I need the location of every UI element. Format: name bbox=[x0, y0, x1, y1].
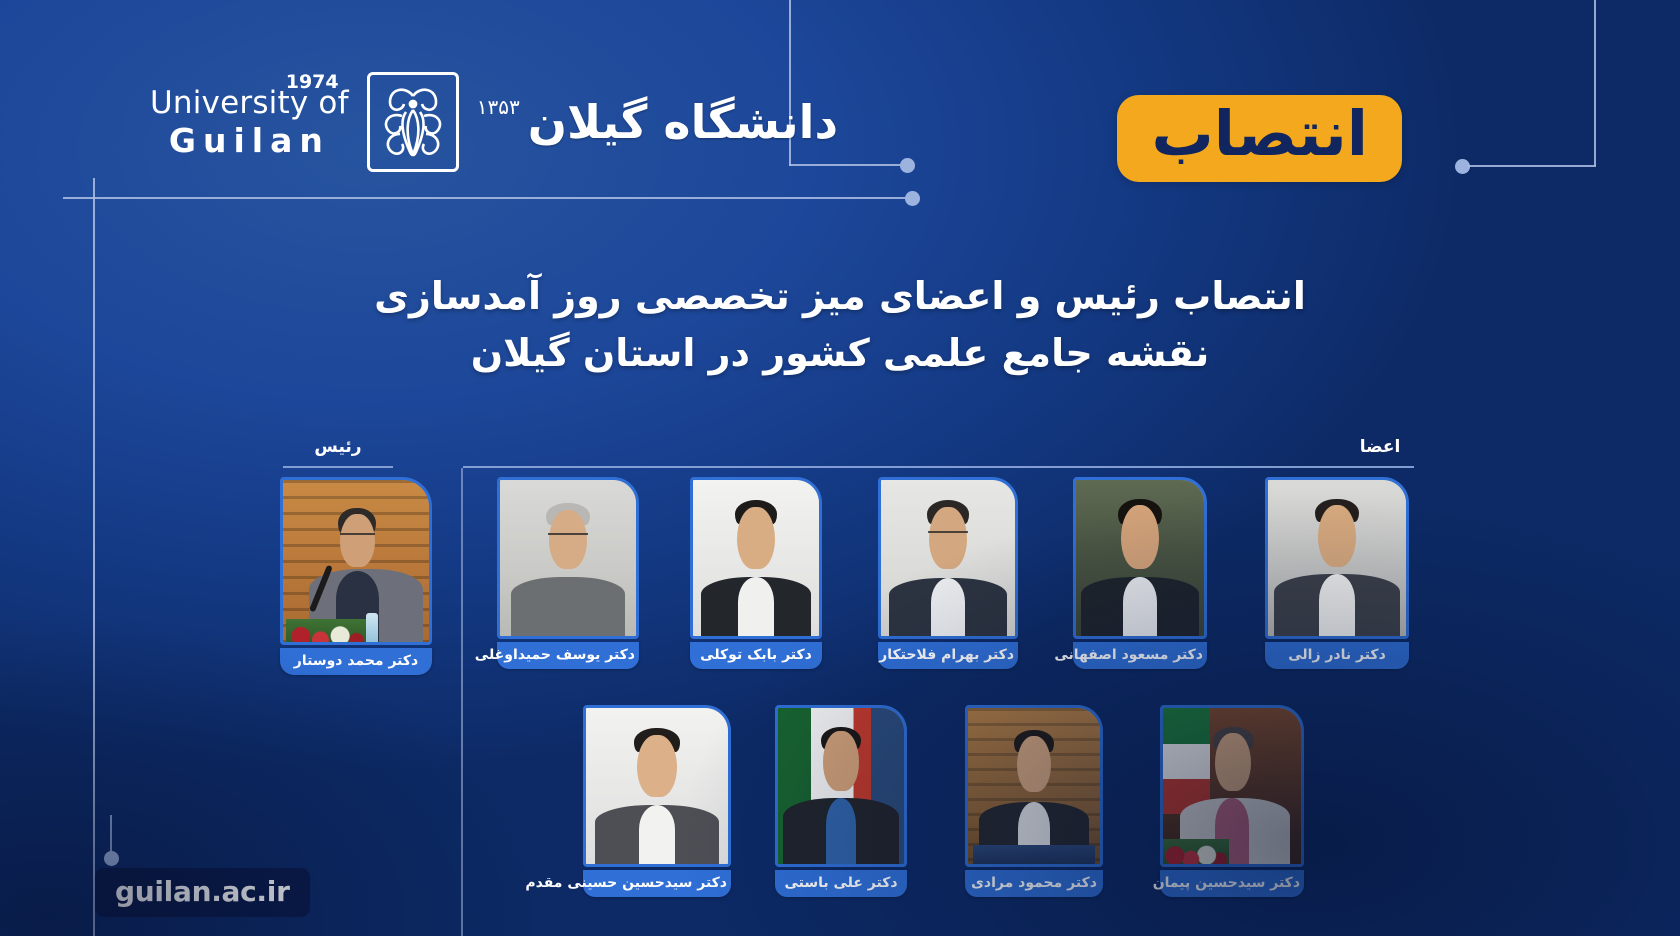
section-rule-chief bbox=[283, 466, 393, 468]
logo-name-en: University of Guilan bbox=[150, 85, 349, 160]
person-card[interactable]: دکتر سیدحسین حسینی مقدم bbox=[583, 705, 731, 897]
person-photo bbox=[775, 705, 907, 867]
person-card[interactable]: دکتر بهرام فلاحتکار bbox=[878, 477, 1018, 669]
person-card[interactable]: دکتر یوسف حمیداوغلی bbox=[497, 477, 639, 669]
person-card[interactable]: دکتر محمود مرادی bbox=[965, 705, 1103, 897]
person-photo bbox=[965, 705, 1103, 867]
appointment-banner: انتصاب bbox=[1117, 95, 1402, 182]
section-label-members: اعضا bbox=[1320, 437, 1440, 457]
person-card[interactable]: دکتر نادر زالی bbox=[1265, 477, 1409, 669]
website-badge[interactable]: guilan.ac.ir bbox=[95, 868, 310, 917]
logo-name-fa: دانشگاه گیلان bbox=[528, 95, 838, 149]
page-title: انتصاب رئیس و اعضای میز تخصصی روز آمدساز… bbox=[0, 268, 1680, 382]
poster-canvas: دانشگاه گیلان ۱۳۵۳ 1974 University of Gu… bbox=[0, 0, 1680, 936]
section-label-chief: رئیس bbox=[278, 437, 398, 457]
page-title-line1: انتصاب رئیس و اعضای میز تخصصی روز آمدساز… bbox=[0, 268, 1680, 325]
person-photo bbox=[1073, 477, 1207, 639]
person-photo bbox=[878, 477, 1018, 639]
logo-name-en-line2: Guilan bbox=[150, 121, 349, 160]
deco-line-members-divider bbox=[461, 468, 463, 936]
person-name: دکتر سیدحسین پیمان bbox=[1160, 870, 1304, 897]
deco-line-badge-vertical bbox=[110, 815, 112, 853]
logo-year-en: 1974 bbox=[286, 71, 339, 93]
deco-dot-top-line-end bbox=[900, 158, 915, 173]
person-name: دکتر علی باستی bbox=[775, 870, 907, 897]
person-photo bbox=[497, 477, 639, 639]
butterfly-emblem-icon: 1974 bbox=[367, 72, 459, 172]
person-name: دکتر محمد دوستار bbox=[280, 648, 432, 675]
person-photo bbox=[280, 477, 432, 645]
person-name: دکتر مسعود اصفهانی bbox=[1073, 642, 1207, 669]
person-name: دکتر نادر زالی bbox=[1265, 642, 1409, 669]
person-name: دکتر محمود مرادی bbox=[965, 870, 1103, 897]
deco-dot-badge bbox=[104, 851, 119, 866]
person-card[interactable]: دکتر محمد دوستار bbox=[280, 477, 432, 675]
person-photo bbox=[690, 477, 822, 639]
person-photo bbox=[1160, 705, 1304, 867]
deco-line-right-vertical bbox=[1594, 0, 1596, 166]
logo-year-fa: ۱۳۵۳ bbox=[477, 95, 520, 119]
deco-line-top-horizontal bbox=[789, 164, 907, 166]
person-card[interactable]: دکتر مسعود اصفهانی bbox=[1073, 477, 1207, 669]
deco-line-left-horizontal bbox=[63, 197, 913, 199]
person-name: دکتر بابک توکلی bbox=[690, 642, 822, 669]
person-card[interactable]: دکتر علی باستی bbox=[775, 705, 907, 897]
page-title-line2: نقشه جامع علمی کشور در استان گیلان bbox=[0, 325, 1680, 382]
person-photo bbox=[583, 705, 731, 867]
person-name: دکتر یوسف حمیداوغلی bbox=[497, 642, 639, 669]
person-card[interactable]: دکتر بابک توکلی bbox=[690, 477, 822, 669]
section-rule-members bbox=[463, 466, 1414, 468]
person-name: دکتر سیدحسین حسینی مقدم bbox=[583, 870, 731, 897]
university-logo: دانشگاه گیلان ۱۳۵۳ 1974 University of Gu… bbox=[150, 62, 750, 182]
person-name: دکتر بهرام فلاحتکار bbox=[878, 642, 1018, 669]
deco-dot-left-line-end bbox=[905, 191, 920, 206]
person-photo bbox=[1265, 477, 1409, 639]
deco-line-right-horizontal bbox=[1468, 165, 1596, 167]
person-card[interactable]: دکتر سیدحسین پیمان bbox=[1160, 705, 1304, 897]
